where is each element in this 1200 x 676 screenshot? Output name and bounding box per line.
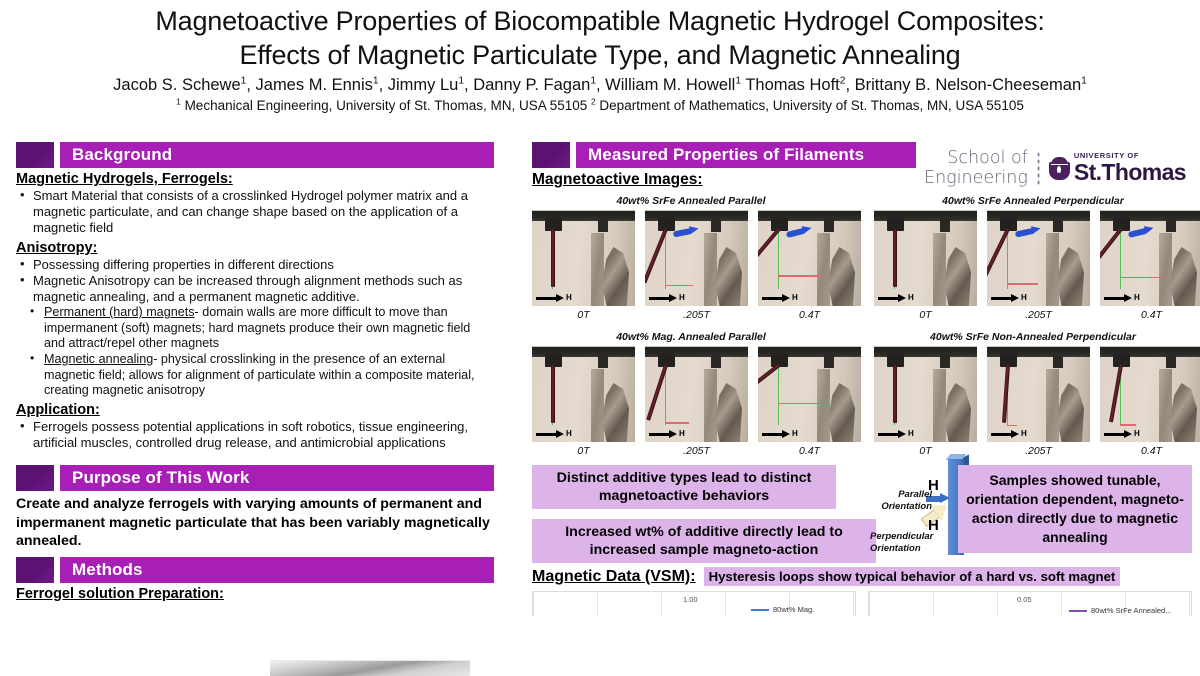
field-strength-caption: 0T: [532, 309, 635, 321]
image-group-title: 40wt% SrFe Annealed Perpendicular: [874, 195, 1192, 207]
term-magnetic-annealing: Magnetic annealing: [44, 352, 153, 366]
chart-axis-tick: 1.00: [683, 595, 698, 604]
sample-photo: H: [758, 210, 861, 306]
photo-mount-notch: [1053, 219, 1063, 232]
subheading-application: Application:: [16, 402, 494, 418]
section-title-bar: Measured Properties of Filaments: [576, 142, 916, 168]
sample-photo: H: [987, 210, 1090, 306]
vsm-heading: Magnetic Data (VSM):: [532, 568, 696, 586]
ferrogel-filament: [893, 365, 897, 423]
field-direction-indicator: H: [878, 294, 914, 302]
ferrogel-filament: [551, 365, 555, 423]
field-symbol-label: H: [1021, 430, 1027, 438]
photo-background-object: [817, 233, 830, 306]
field-symbol-label: H: [679, 430, 685, 438]
ferrogel-filament: [551, 229, 555, 287]
poster-title-block: Magnetoactive Properties of Biocompatibl…: [0, 0, 1200, 115]
photo-background-object: [704, 233, 717, 306]
angle-reference-line: [1007, 283, 1038, 284]
vertical-reference-line: [665, 231, 666, 289]
field-direction-indicator: H: [991, 430, 1027, 438]
legend-label: 80wt% SrFe Annealed...: [1091, 606, 1171, 615]
angle-reference-line: [1007, 425, 1017, 426]
logo-divider-dots: [1037, 151, 1040, 185]
field-symbol-label: H: [1134, 294, 1140, 302]
magnetoactive-image-cell: H0.4T: [758, 346, 861, 457]
section-title-measured: Measured Properties of Filaments: [576, 145, 864, 165]
term-permanent-magnets: Permanent (hard) magnets: [44, 305, 195, 319]
st-thomas-wordmark: UNIVERSITY OF St.Thomas: [1049, 152, 1186, 184]
field-symbol-label: H: [566, 294, 572, 302]
sample-photo: H: [1100, 210, 1200, 306]
photo-background-object: [933, 233, 946, 306]
angle-reference-line: [665, 422, 689, 423]
list-item: Magnetic annealing- physical crosslinkin…: [24, 352, 494, 399]
section-title-background: Background: [60, 145, 172, 165]
field-direction-indicator: H: [762, 430, 798, 438]
subheading-ferrogel-prep: Ferrogel solution Preparation:: [16, 586, 494, 602]
field-direction-indicator: H: [991, 294, 1027, 302]
section-header-background: Background: [16, 142, 494, 168]
sample-photo: H: [1100, 346, 1200, 442]
list-item: Possessing differing properties in diffe…: [16, 257, 494, 273]
vsm-note-banner: Hysteresis loops show typical behavior o…: [704, 567, 1121, 586]
photo-mount-notch: [711, 219, 721, 232]
photo-background-object: [1046, 369, 1059, 442]
shield-crest-icon: [1049, 157, 1070, 180]
photo-background-object: [591, 369, 604, 442]
legend-label: 80wt% Mag.: [773, 605, 814, 614]
sample-photo: H: [645, 346, 748, 442]
vsm-heading-row: Magnetic Data (VSM): Hysteresis loops sh…: [532, 567, 1192, 586]
photo-mount-notch: [598, 355, 608, 368]
author-list: Jacob S. Schewe1, James M. Ennis1, Jimmy…: [0, 75, 1200, 96]
anisotropy-bullet-list: Possessing differing properties in diffe…: [16, 257, 494, 399]
chart-legend-item: 80wt% Mag.: [751, 605, 814, 614]
angle-reference-line: [778, 275, 821, 276]
list-item: Smart Material that consists of a crossl…: [16, 188, 494, 237]
image-group-title: 40wt% SrFe Non-Annealed Perpendicular: [874, 331, 1192, 343]
image-group-srfe-annealed-perpendicular: 40wt% SrFe Annealed Perpendicular H0TH.2…: [874, 195, 1192, 321]
vertical-reference-line: [778, 231, 779, 289]
field-strength-caption: 0.4T: [758, 445, 861, 457]
background-body: Magnetic Hydrogels, Ferrogels: Smart Mat…: [16, 171, 494, 451]
list-item: Permanent (hard) magnets- domain walls a…: [24, 305, 494, 352]
photo-mount-notch: [1053, 355, 1063, 368]
purpose-body-text: Create and analyze ferrogels with varyin…: [16, 495, 494, 551]
section-header-purpose: Purpose of This Work: [16, 465, 494, 491]
field-symbol-label: H: [566, 430, 572, 438]
field-strength-caption: 0T: [874, 309, 977, 321]
magnetoactive-image-grid: 40wt% SrFe Annealed Parallel H0TH.205TH0…: [532, 195, 1192, 457]
magnetoactive-image-cell: H0.4T: [758, 210, 861, 321]
university-logo: School of Engineering UNIVERSITY OF St.T…: [924, 144, 1186, 192]
magnetoactive-image-cell: H.205T: [987, 210, 1090, 321]
photo-mount-notch: [1166, 219, 1176, 232]
right-column: Measured Properties of Filaments School …: [532, 142, 1192, 616]
list-item: Ferrogels possess potential applications…: [16, 419, 494, 451]
vertical-reference-line: [778, 367, 779, 425]
vertical-reference-line: [665, 367, 666, 425]
legend-swatch: [751, 609, 769, 611]
image-group-mag-annealed-parallel: 40wt% Mag. Annealed Parallel H0TH.205TH0…: [532, 331, 850, 457]
angle-reference-line: [1120, 277, 1162, 278]
field-strength-caption: 0.4T: [1100, 309, 1200, 321]
chart-legend-item: 80wt% SrFe Annealed...: [1069, 606, 1171, 615]
field-direction-indicator: H: [536, 430, 572, 438]
sample-photo: H: [532, 346, 635, 442]
angle-reference-line: [778, 403, 830, 404]
logo-school-line-2: Engineering: [924, 168, 1028, 188]
magnetoactive-image-cell: H.205T: [987, 346, 1090, 457]
field-strength-caption: .205T: [645, 309, 748, 321]
field-direction-indicator: H: [878, 430, 914, 438]
page-title-line-2: Effects of Magnetic Particulate Type, an…: [0, 38, 1200, 72]
field-strength-caption: 0.4T: [1100, 445, 1200, 457]
vsm-chart-soft-magnet: 1.00 80wt% Mag.: [532, 591, 856, 616]
page-title-line-1: Magnetoactive Properties of Biocompatibl…: [0, 4, 1200, 38]
section-title-purpose: Purpose of This Work: [60, 468, 249, 488]
field-symbol-label: H: [792, 294, 798, 302]
photo-background-object: [591, 233, 604, 306]
magnetoactive-image-cell: H.205T: [645, 346, 748, 457]
legend-swatch: [1069, 610, 1087, 612]
magnetoactive-image-cell: H0.4T: [1100, 346, 1200, 457]
methods-photo: [270, 660, 470, 676]
affiliation-line: 1 Mechanical Engineering, University of …: [0, 97, 1200, 115]
section-marker-square: [16, 465, 54, 491]
callout-tunable-samples: Samples showed tunable, orientation depe…: [958, 465, 1192, 553]
section-title-bar: Background: [60, 142, 494, 168]
photo-background-object: [1159, 233, 1172, 306]
image-group-title: 40wt% Mag. Annealed Parallel: [532, 331, 850, 343]
angle-reference-line: [1120, 424, 1136, 425]
vertical-reference-line: [1120, 231, 1121, 289]
photo-background-object: [817, 369, 830, 442]
section-marker-square: [16, 142, 54, 168]
list-item: Magnetic Anisotropy can be increased thr…: [16, 273, 494, 305]
field-direction-indicator: H: [1104, 430, 1140, 438]
photo-background-object: [1159, 369, 1172, 442]
magnetoactive-image-cell: H0T: [532, 210, 635, 321]
field-direction-indicator: H: [649, 294, 685, 302]
photo-mount-notch: [598, 219, 608, 232]
subheading-anisotropy: Anisotropy:: [16, 240, 494, 256]
photo-background-object: [933, 369, 946, 442]
photo-mount-notch: [1166, 355, 1176, 368]
sample-photo: H: [874, 210, 977, 306]
ferrogel-filament: [893, 229, 897, 287]
photo-background-object: [1046, 233, 1059, 306]
field-strength-caption: 0.4T: [758, 309, 861, 321]
section-title-bar: Purpose of This Work: [60, 465, 494, 491]
sample-photo: H: [874, 346, 977, 442]
magnetoactive-image-cell: H0T: [874, 346, 977, 457]
vsm-chart-hard-magnet: 0.05 80wt% SrFe Annealed...: [868, 591, 1192, 616]
magnetoactive-image-cell: H.205T: [645, 210, 748, 321]
callout-increased-wt: Increased wt% of additive directly lead …: [532, 519, 876, 563]
field-direction-indicator: H: [536, 294, 572, 302]
image-group-srfe-nonannealed-perpendicular: 40wt% SrFe Non-Annealed Perpendicular H0…: [874, 331, 1192, 457]
subheading-ferrogels: Magnetic Hydrogels, Ferrogels:: [16, 171, 494, 187]
field-symbol-label: H: [1134, 430, 1140, 438]
field-strength-caption: .205T: [987, 445, 1090, 457]
chart-axis-tick: 0.05: [1017, 595, 1032, 604]
field-strength-caption: .205T: [645, 445, 748, 457]
sample-photo: H: [645, 210, 748, 306]
section-header-methods: Methods: [16, 557, 494, 583]
vertical-reference-line: [1007, 231, 1008, 289]
poster-canvas: Magnetoactive Properties of Biocompatibl…: [0, 0, 1200, 675]
field-symbol-label: H: [679, 294, 685, 302]
school-of-engineering-wordmark: School of Engineering: [924, 148, 1028, 188]
photo-mount-notch: [711, 355, 721, 368]
field-strength-caption: 0T: [532, 445, 635, 457]
ferrogels-bullet-list: Smart Material that consists of a crossl…: [16, 188, 494, 237]
photo-background-object: [704, 369, 717, 442]
field-symbol-label: H: [908, 430, 914, 438]
image-grid-row-1: 40wt% SrFe Annealed Parallel H0TH.205TH0…: [532, 195, 1192, 321]
field-strength-caption: .205T: [987, 309, 1090, 321]
anisotropy-sub-list: Permanent (hard) magnets- domain walls a…: [16, 305, 494, 399]
sample-photo: H: [987, 346, 1090, 442]
logo-st-thomas: St.Thomas: [1074, 161, 1186, 184]
magnetoactive-image-cell: H0.4T: [1100, 210, 1200, 321]
field-symbol-label: H: [908, 294, 914, 302]
section-title-methods: Methods: [60, 560, 143, 580]
sample-photo: H: [532, 210, 635, 306]
field-direction-indicator: H: [1104, 294, 1140, 302]
field-symbol-label: H: [1021, 294, 1027, 302]
photo-mount-notch: [824, 355, 834, 368]
perpendicular-orientation-label: Perpendicular Orientation: [870, 531, 948, 554]
field-direction-indicator: H: [762, 294, 798, 302]
left-column: Background Magnetic Hydrogels, Ferrogels…: [16, 142, 494, 603]
photo-mount-notch: [940, 219, 950, 232]
section-marker-square: [532, 142, 570, 168]
section-marker-square: [16, 557, 54, 583]
photo-mount-notch: [824, 219, 834, 232]
field-symbol-label: H: [792, 430, 798, 438]
field-direction-indicator: H: [649, 430, 685, 438]
callout-distinct-additive: Distinct additive types lead to distinct…: [532, 465, 836, 509]
magnetoactive-image-cell: H0T: [532, 346, 635, 457]
logo-school-line-1: School of: [924, 148, 1028, 168]
application-bullet-list: Ferrogels possess potential applications…: [16, 419, 494, 451]
findings-callouts: Distinct additive types lead to distinct…: [532, 465, 1192, 561]
vsm-charts: 1.00 80wt% Mag. 0.05 80wt% SrFe Annealed…: [532, 591, 1192, 616]
section-title-bar: Methods: [60, 557, 494, 583]
image-grid-row-2: 40wt% Mag. Annealed Parallel H0TH.205TH0…: [532, 331, 1192, 457]
photo-mount-notch: [940, 355, 950, 368]
angle-reference-line: [665, 285, 693, 286]
sample-photo: H: [758, 346, 861, 442]
image-group-srfe-annealed-parallel: 40wt% SrFe Annealed Parallel H0TH.205TH0…: [532, 195, 850, 321]
magnetoactive-image-cell: H0T: [874, 210, 977, 321]
image-group-title: 40wt% SrFe Annealed Parallel: [532, 195, 850, 207]
